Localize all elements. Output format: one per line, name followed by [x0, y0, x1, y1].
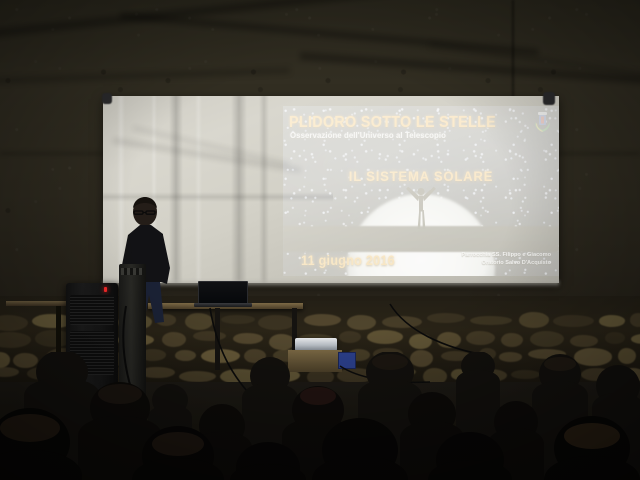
- audience-silhouettes: [0, 352, 640, 480]
- slide-credit-line-1: Parrocchia SS. Filippo e Giacomo: [461, 252, 551, 259]
- screen-wrinkle: [195, 96, 202, 283]
- slide-title: PLIDORO SOTTO LE STELLE: [289, 114, 501, 132]
- stone-block: [553, 315, 594, 328]
- screen-fold: [259, 96, 269, 283]
- screen-clip-left: [102, 93, 112, 104]
- slide-subtitle: Osservazione dell'Universo al Telescopio: [290, 131, 508, 140]
- person-silhouette-icon: [400, 182, 442, 230]
- screen-fold: [231, 96, 247, 283]
- stone-block: [530, 331, 565, 347]
- screen-clip-right: [543, 92, 555, 105]
- slide-heading: IL SISTEMA SOLARE: [291, 168, 550, 184]
- coat-of-arms-icon: [532, 111, 553, 135]
- slide-credit: Parrocchia SS. Filippo e Giacomo Oratori…: [461, 252, 551, 267]
- stone-block: [0, 332, 31, 348]
- pa-power-led: [104, 287, 107, 292]
- stone-block: [519, 312, 550, 327]
- stone-block: [631, 334, 640, 344]
- stone-block: [605, 332, 626, 344]
- stone-block: [0, 315, 28, 331]
- projected-slide: PLIDORO SOTTO LE STELLE Osservazione del…: [283, 106, 559, 276]
- stand-knobs: [121, 268, 144, 275]
- stone-block: [630, 313, 640, 327]
- stone-block: [570, 335, 598, 348]
- wall-seam: [512, 0, 514, 108]
- photo-scene: PLIDORO SOTTO LE STELLE Osservazione del…: [0, 0, 640, 480]
- slide-credit-line-2: Oratorio Salvo D'Acquisto: [461, 260, 551, 267]
- stone-block: [599, 315, 625, 327]
- slide-date: 11 giugno 2016: [301, 253, 395, 268]
